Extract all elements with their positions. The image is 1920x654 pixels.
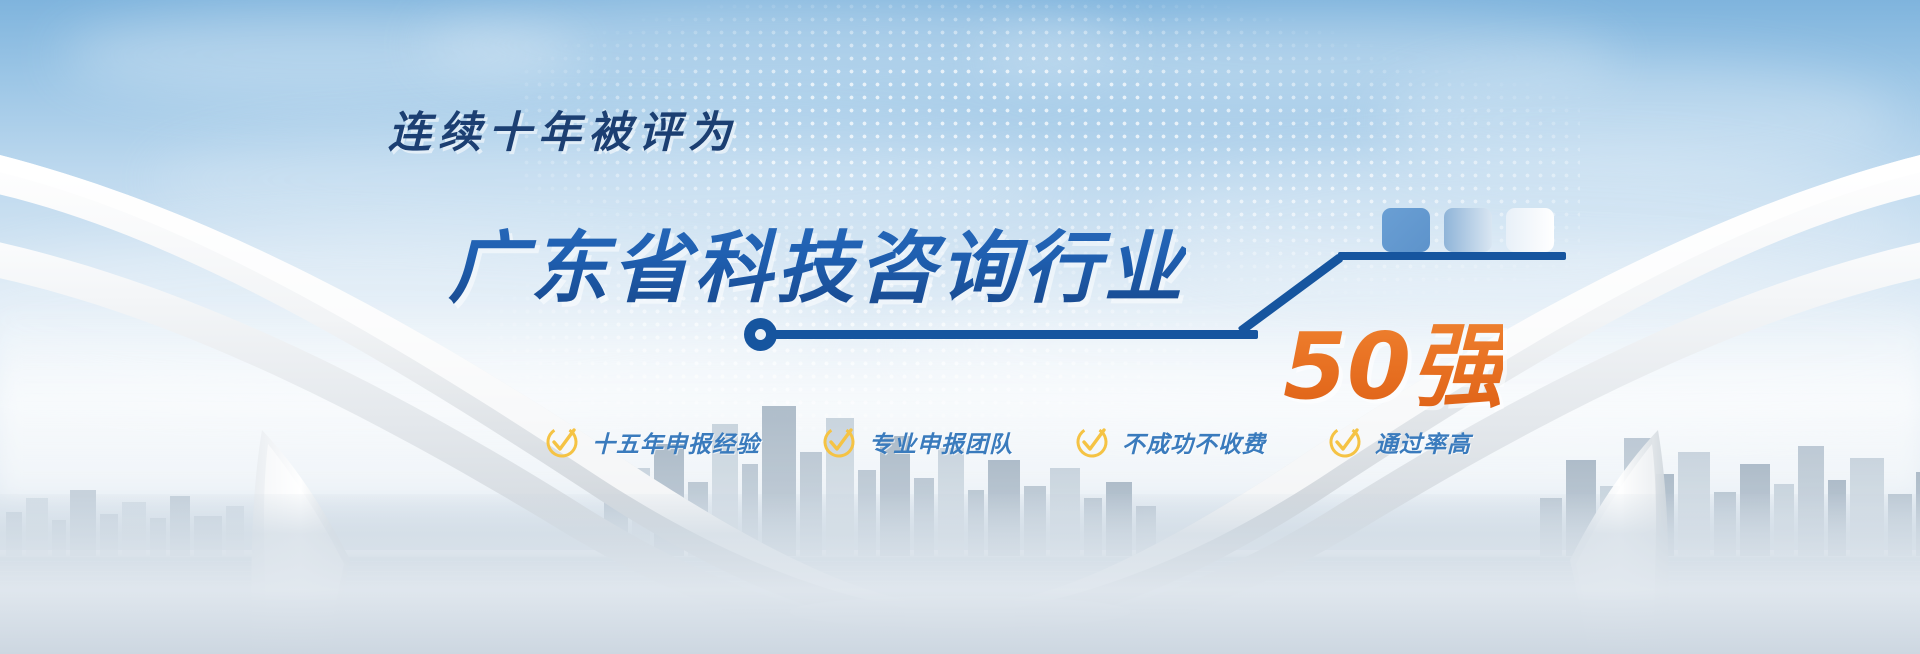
check-circle-icon	[1075, 425, 1109, 459]
kicker-text: 连续十年被评为	[388, 98, 738, 160]
feature-label: 不成功不收费	[1122, 425, 1266, 459]
square-gradient-white	[1506, 208, 1554, 252]
feature-label: 专业申报团队	[869, 425, 1013, 459]
banner-content: 连续十年被评为 广东省科技咨询行业 广东省科技咨询行业 50强 十五年申报经验	[0, 0, 1920, 654]
feature-item: 不成功不收费	[1075, 425, 1266, 459]
square-gradient-blue-white	[1444, 208, 1492, 252]
feature-item: 通过率高	[1328, 425, 1471, 459]
check-circle-icon	[822, 425, 856, 459]
feature-label: 十五年申报经验	[592, 425, 760, 459]
feature-item: 十五年申报经验	[545, 425, 760, 459]
check-circle-icon	[545, 425, 579, 459]
feature-item: 专业申报团队	[822, 425, 1013, 459]
promo-banner: 连续十年被评为 广东省科技咨询行业 广东省科技咨询行业 50强 十五年申报经验	[0, 0, 1920, 654]
decor-square-row	[1382, 208, 1554, 252]
square-solid-blue	[1382, 208, 1430, 252]
headline-text: 广东省科技咨询行业	[448, 206, 1186, 318]
feature-list: 十五年申报经验 专业申报团队 不成功不收费	[545, 425, 1471, 459]
connector-line	[770, 330, 1258, 339]
feature-label: 通过率高	[1375, 425, 1471, 459]
connector-top-line	[1338, 252, 1566, 260]
award-badge-text: 50强	[1283, 292, 1503, 425]
check-circle-icon	[1328, 425, 1362, 459]
